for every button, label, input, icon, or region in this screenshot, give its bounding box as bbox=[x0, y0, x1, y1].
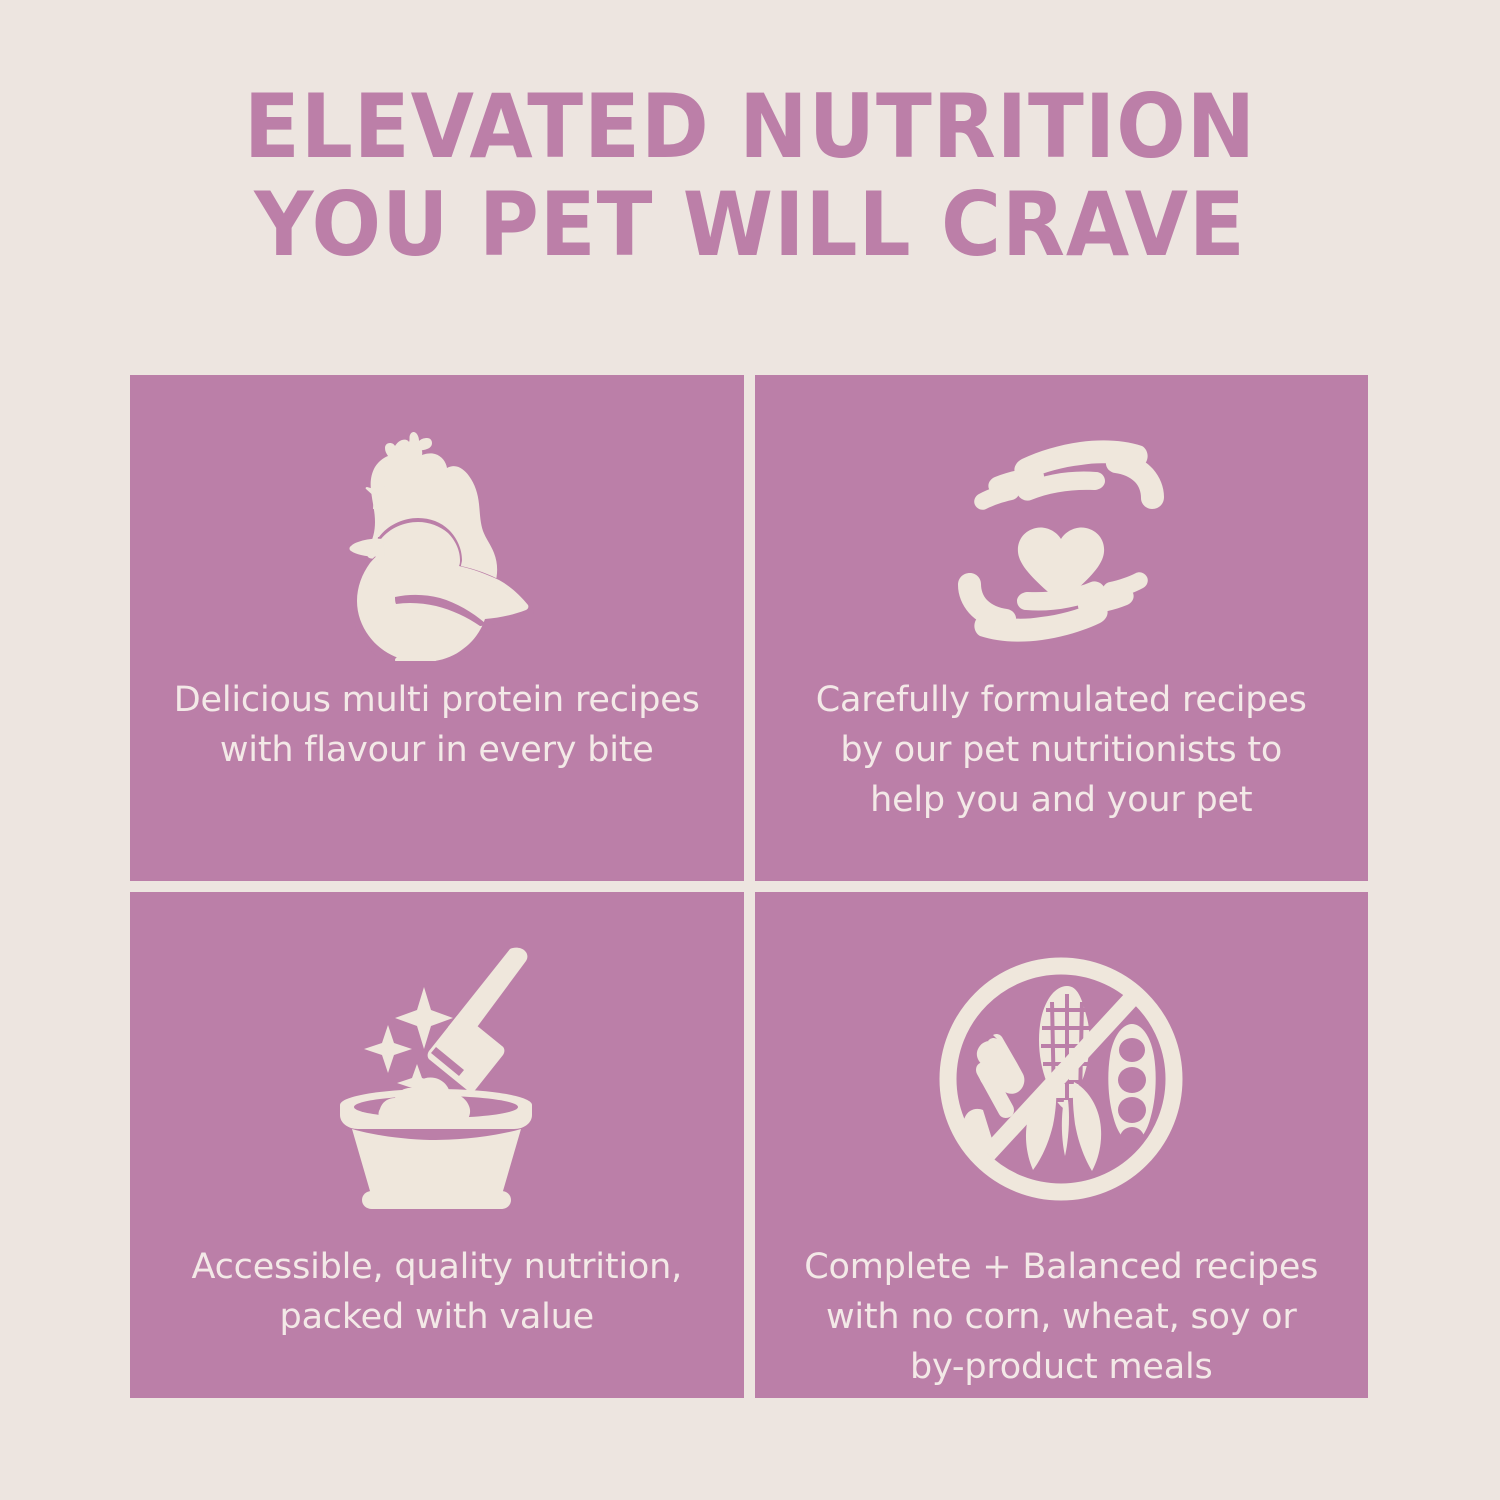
feature-card-multi-protein: Delicious multi protein recipes with fla… bbox=[130, 375, 744, 881]
page-title: ELEVATED NUTRITION YOU PET WILL CRAVE bbox=[53, 78, 1448, 274]
caption-line: Accessible, quality nutrition, bbox=[164, 1242, 710, 1292]
feature-card-caption: Delicious multi protein recipes with fla… bbox=[130, 675, 744, 775]
no-corn-wheat-soy-icon bbox=[755, 934, 1369, 1224]
feature-card-nutritionist-formulated: Carefully formulated recipes by our pet … bbox=[755, 375, 1369, 881]
feature-card-accessible-value: Accessible, quality nutrition, packed wi… bbox=[130, 892, 744, 1398]
caption-line: Delicious multi protein recipes bbox=[164, 675, 710, 725]
hands-holding-heart-icon bbox=[755, 413, 1369, 668]
chicken-and-duck-icon bbox=[130, 413, 744, 668]
feature-grid: Delicious multi protein recipes with fla… bbox=[130, 375, 1368, 1398]
caption-line: Carefully formulated recipes bbox=[789, 675, 1335, 725]
feature-card-caption: Complete + Balanced recipes with no corn… bbox=[755, 1242, 1369, 1392]
caption-line: help you and your pet bbox=[789, 775, 1335, 825]
caption-line: with no corn, wheat, soy or bbox=[789, 1292, 1335, 1342]
caption-line: Complete + Balanced recipes bbox=[789, 1242, 1335, 1292]
feature-card-no-fillers: Complete + Balanced recipes with no corn… bbox=[755, 892, 1369, 1398]
caption-line: by-product meals bbox=[789, 1342, 1335, 1392]
feature-card-caption: Carefully formulated recipes by our pet … bbox=[755, 675, 1369, 825]
headline-line-2: YOU PET WILL CRAVE bbox=[53, 176, 1448, 274]
caption-line: with flavour in every bite bbox=[164, 725, 710, 775]
caption-line: packed with value bbox=[164, 1292, 710, 1342]
food-bowl-with-scoop-icon bbox=[130, 934, 744, 1224]
headline-line-1: ELEVATED NUTRITION bbox=[53, 78, 1448, 176]
caption-line: by our pet nutritionists to bbox=[789, 725, 1335, 775]
promo-graphic: ELEVATED NUTRITION YOU PET WILL CRAVE bbox=[0, 0, 1500, 1500]
feature-card-caption: Accessible, quality nutrition, packed wi… bbox=[130, 1242, 744, 1342]
